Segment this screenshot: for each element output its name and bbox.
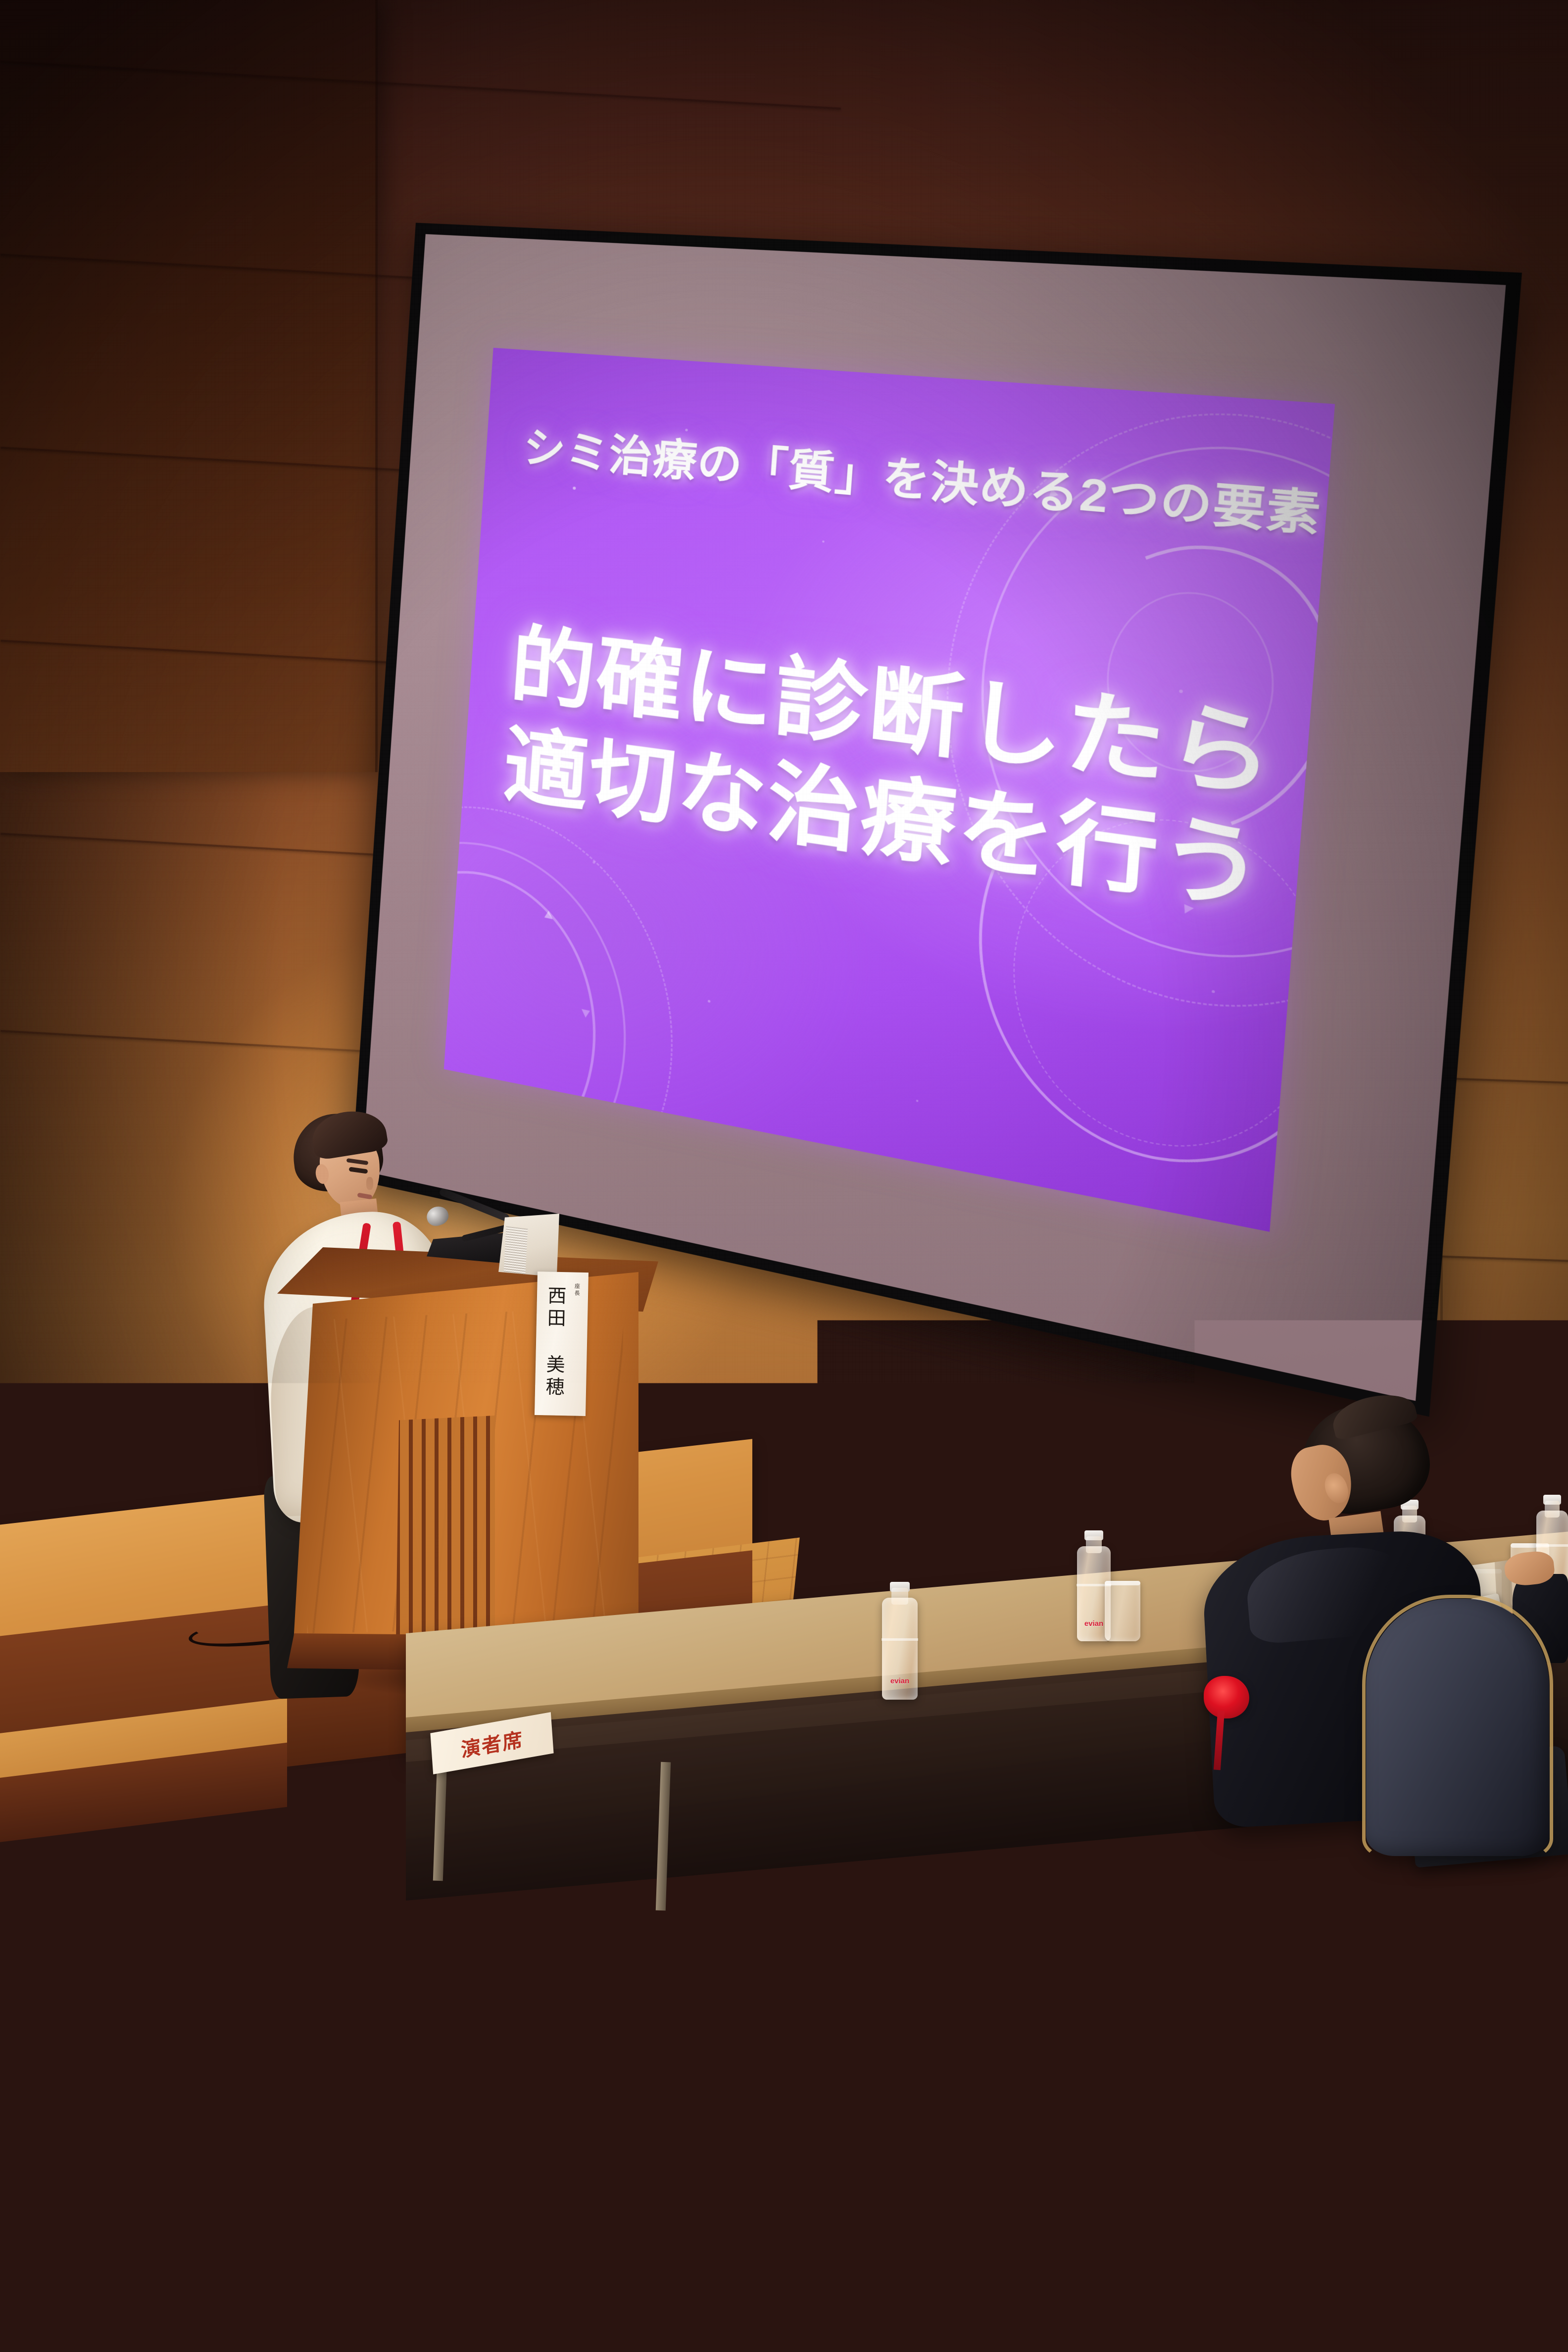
podium-nameplate: 西田 美穂 座長 xyxy=(535,1272,588,1416)
name-card xyxy=(1120,1853,1213,1956)
bottle-brand-label: evian xyxy=(713,2012,760,2027)
name-card xyxy=(298,2118,419,2252)
nameplate-side-text: 座長 xyxy=(570,1283,581,1297)
nameplate-name-text: 西田 美穂 xyxy=(543,1285,569,1399)
slide-sparkle xyxy=(708,1000,711,1003)
conference-scene: シミ治療の「質」を決める2つの要素 的確に診断したら 適切な治療を行う xyxy=(0,0,1568,2352)
conference-chair[interactable] xyxy=(770,2094,993,2352)
bottle-brand-label: evian xyxy=(883,1677,916,1685)
slide-sparkle xyxy=(916,1100,918,1102)
slide-sparkle xyxy=(685,429,688,432)
conference-chair[interactable] xyxy=(577,2257,795,2352)
drinking-glass xyxy=(1105,1581,1140,1641)
attendee-corsage xyxy=(1204,1676,1249,1718)
projection-screen-assembly: シミ治療の「質」を決める2つの要素 的確に診断したら 適切な治療を行う xyxy=(0,0,1568,1287)
slide-sparkle xyxy=(573,487,576,490)
podium-slat-panel xyxy=(396,1416,495,1648)
confidence-monitor-screen xyxy=(504,1226,528,1274)
presentation-slide: シミ治療の「質」を決める2つの要素 的確に診断したら 適切な治療を行う xyxy=(443,348,1334,1232)
water-bottle: evian xyxy=(882,1582,918,1700)
presenter-nose xyxy=(366,1177,373,1190)
slide-decoration-ring xyxy=(443,781,687,1232)
conference-chair[interactable] xyxy=(1198,2000,1416,2277)
water-bottle: evian xyxy=(711,1875,762,2048)
slide-sparkle xyxy=(822,540,825,542)
